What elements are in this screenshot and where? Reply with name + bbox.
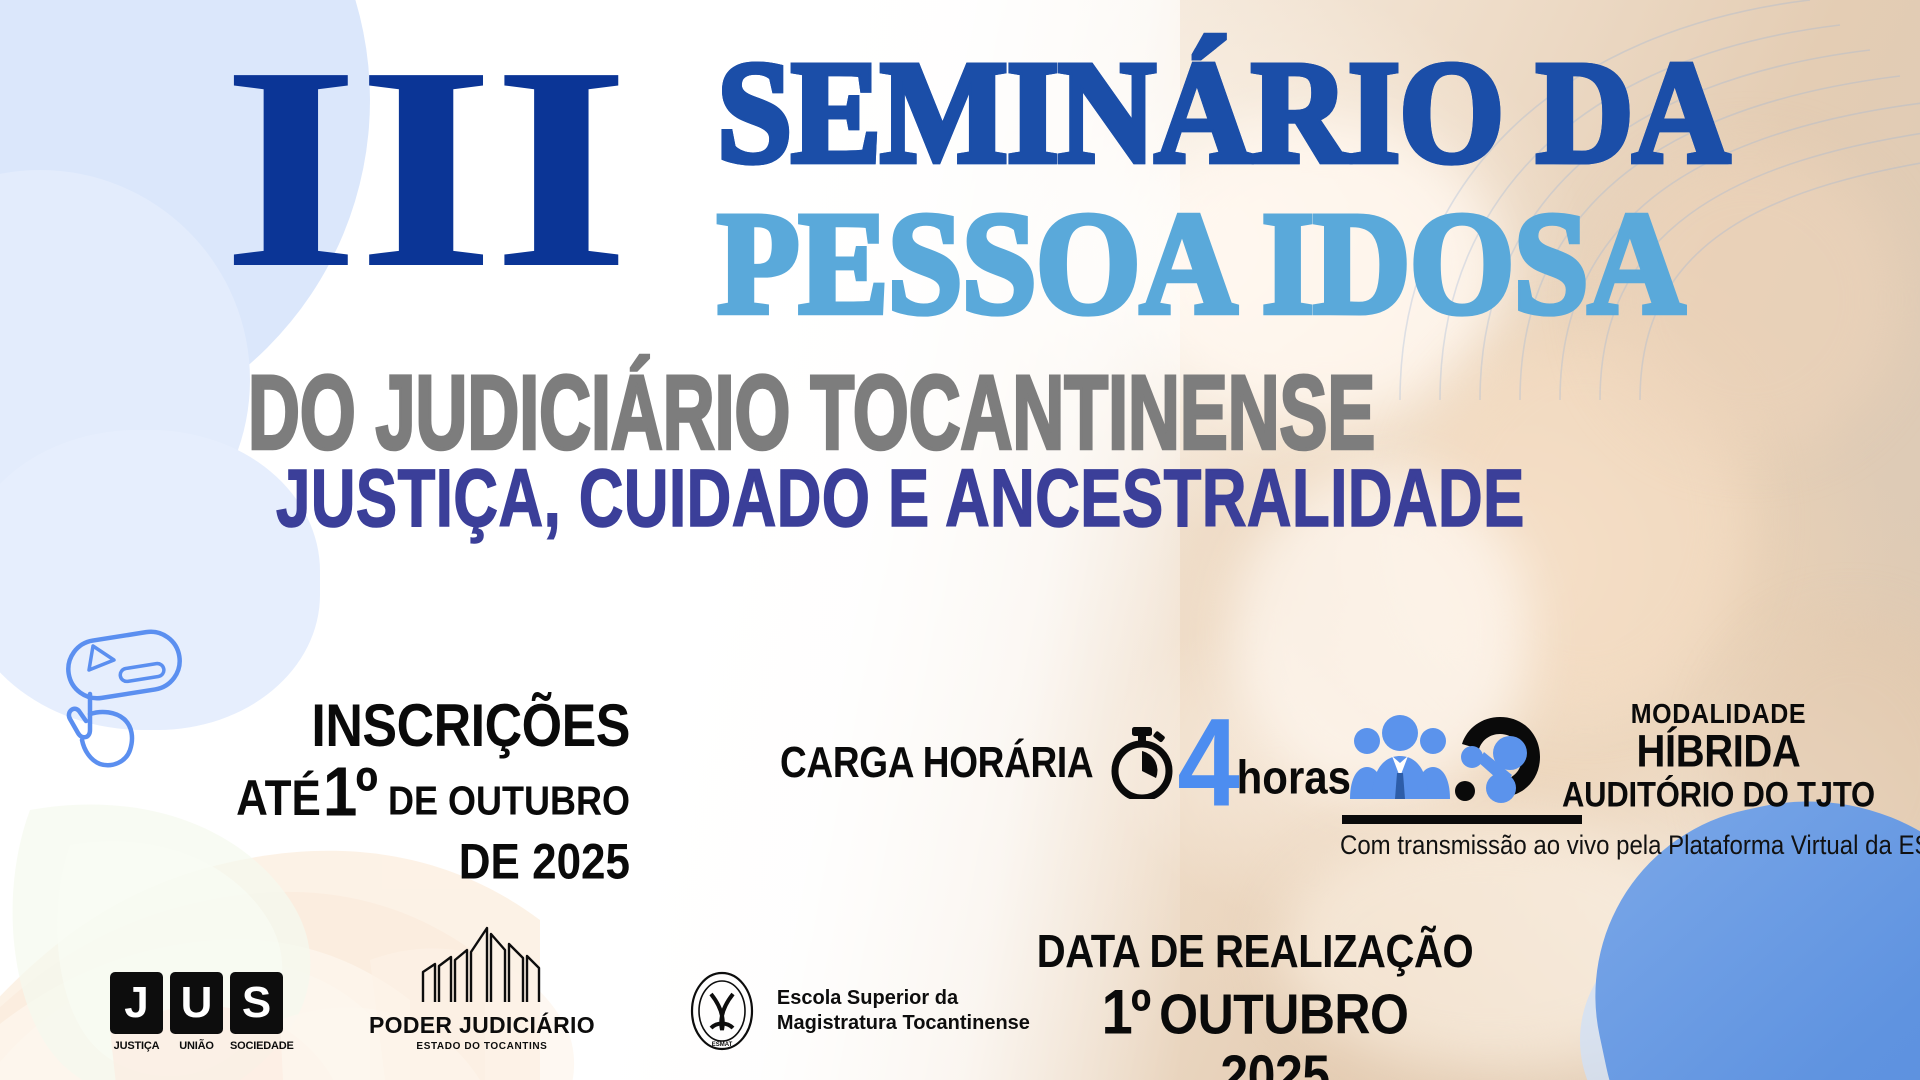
footer-logos: J U S JUSTIÇA UNIÃO SOCIEDADE [110, 924, 1030, 1052]
title-line-2: PESSOA IDOSA [717, 199, 1729, 328]
event-date-day: 1º [1102, 975, 1150, 1048]
poder-judiciario-logo: PODER JUDICIÁRIO ESTADO DO TOCANTINS [369, 924, 595, 1052]
event-poster: III SEMINÁRIO DA PESSOA IDOSA DO JUDICIÁ… [0, 0, 1920, 1080]
jus-word-sociedade: SOCIEDADE [230, 1040, 283, 1052]
hybrid-network-icon [1448, 709, 1548, 805]
registration-deadline-row: ATÉ 1º DE OUTUBRO [180, 762, 630, 824]
people-group-icon [1348, 711, 1452, 803]
event-date-row: 1º OUTUBRO [1020, 979, 1490, 1044]
esmat-name-line-1: Escola Superior da [777, 986, 1030, 1011]
cursor-click-icon [60, 620, 192, 770]
modality-note: Com transmissão ao vivo pela Plataforma … [1340, 831, 1908, 862]
workload-hours-unit: horas [1237, 751, 1351, 805]
jus-letter-s: S [230, 972, 283, 1034]
registration-heading: INSCRIÇÕES [180, 696, 630, 756]
workload-label: CARGA HORÁRIA [780, 738, 1093, 788]
workload-block: CARGA HORÁRIA 4 horas [780, 718, 1351, 808]
modality-block: MODALIDADE HÍBRIDA AUDITÓRIO DO TJTO Com… [1348, 700, 1908, 859]
event-date-block: DATA DE REALIZAÇÃO 1º OUTUBRO 2025 [1020, 930, 1490, 1080]
event-number: III [222, 52, 628, 284]
registration-until-label: ATÉ [236, 774, 321, 824]
event-date-month: OUTUBRO [1159, 981, 1408, 1047]
registration-month: DE OUTUBRO [388, 780, 630, 821]
workload-hours-value: 4 [1177, 713, 1234, 813]
esmat-logo: ESMAT Escola Superior da Magistratura To… [681, 970, 1030, 1052]
jus-word-uniao: UNIÃO [170, 1040, 223, 1052]
poder-judiciario-state: ESTADO DO TOCANTINS [369, 1041, 595, 1052]
esmat-seal-abbr: ESMAT [712, 1042, 733, 1048]
tagline: JUSTIÇA, CUIDADO E ANCESTRALIDADE [276, 452, 1525, 546]
jus-logo: J U S JUSTIÇA UNIÃO SOCIEDADE [110, 972, 283, 1052]
modality-venue: AUDITÓRIO DO TJTO [1562, 774, 1875, 815]
jus-letter-j: J [110, 972, 163, 1034]
registration-day: 1º [323, 758, 376, 827]
poder-judiciario-name: PODER JUDICIÁRIO [369, 1012, 595, 1039]
esmat-name-line-2: Magistratura Tocantinense [777, 1011, 1030, 1036]
modality-type: HÍBRIDA [1562, 727, 1875, 778]
stopwatch-icon [1111, 727, 1173, 799]
event-date-year: 2025 [1060, 1042, 1490, 1080]
jus-word-justica: JUSTIÇA [110, 1040, 163, 1052]
esmat-seal-icon: ESMAT [681, 970, 763, 1052]
modality-divider [1342, 815, 1582, 824]
event-date-label: DATA DE REALIZAÇÃO [1020, 926, 1490, 978]
registration-year: DE 2025 [180, 834, 630, 891]
title-line-1: SEMINÁRIO DA [717, 48, 1729, 177]
jus-letter-u: U [170, 972, 223, 1034]
building-columns-icon [417, 924, 547, 1002]
